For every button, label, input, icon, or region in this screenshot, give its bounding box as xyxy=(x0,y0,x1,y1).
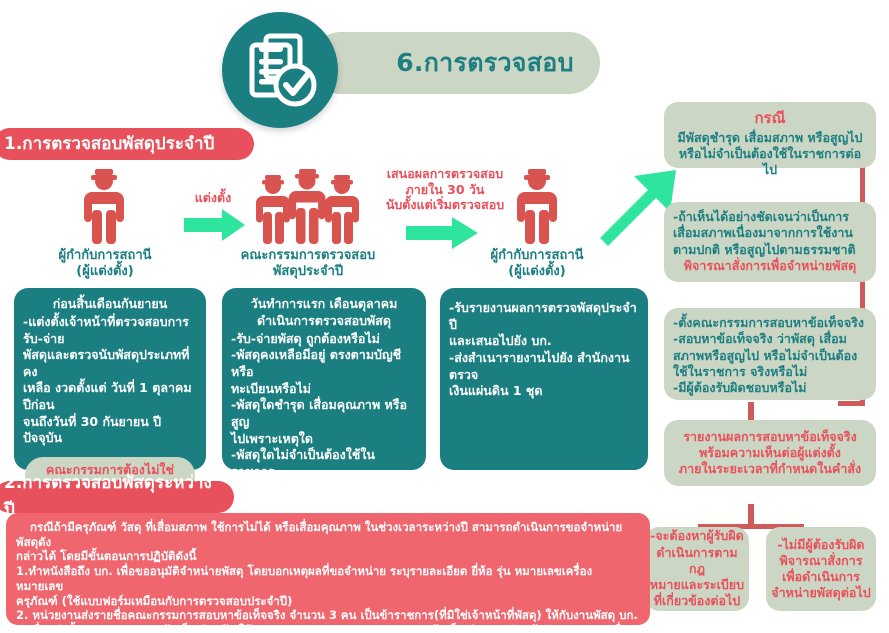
person-icon-station-superintendent-2 xyxy=(505,168,569,246)
green-box-5-line3: หมายและระเบียบ xyxy=(649,577,745,593)
arrow-1-label-text: แต่งตั้ง xyxy=(195,190,232,205)
teal-box-1: ก่อนสิ้นเดือนกันยายน -แต่งตั้งเจ้าหน้าที… xyxy=(14,288,206,470)
bottom-item-1b: ครุภัณฑ์ (ใช้แบบฟอร์มเหมือนกับการตรวจสอบ… xyxy=(16,594,640,609)
connector-bottom-to-box3 xyxy=(838,401,865,406)
teal-box-2-header: วันทำการแรก เดือนตุลาคม ดำเนินการตรวจสอบ… xyxy=(231,296,417,330)
green-box-2-line3: ตามปกติ หรือสูญไปตามธรรมชาติ xyxy=(673,242,867,258)
green-box-2-line1: -ถ้าเห็นได้อย่างชัดเจนว่าเป็นการ xyxy=(673,209,867,225)
green-box-6-line1: -ไม่มีผู้ต้องรับผิด xyxy=(770,537,872,553)
green-box-report-results: รายงานผลการสอบหาข้อเท็จจริง พร้อมความเห็… xyxy=(664,420,876,486)
green-box-3-line3: สภาพหรือสูญไป หรือไม่จำเป็นต้อง xyxy=(673,348,867,364)
person-1-label: ผู้กำกับการสถานี (ผู้แต่งตั้ง) xyxy=(32,248,178,281)
person-1-label-line1: ผู้กำกับการสถานี xyxy=(32,248,178,264)
green-box-3-line2: -สอบหาข้อเท็จจริง ว่าพัสดุ เสื่อม xyxy=(673,331,867,347)
teal-box-2-body-line7: ต่อไป xyxy=(231,480,417,497)
green-box-2-accent: พิจารณาสั่งการเพื่อจำหน่ายพัสดุ xyxy=(673,258,867,274)
teal-box-2-header-line1: วันทำการแรก เดือนตุลาคม xyxy=(231,296,417,313)
bottom-intro-line2: กล่าวได้ โดยมีขั้นตอนการปฏิบัติดังนี้ xyxy=(16,549,640,564)
teal-box-2-body-line4: -พัสดุใดชำรุด เสื่อมคุณภาพ หรือสูญ xyxy=(231,397,417,430)
bottom-intro-line1: กรณีถ้ามีครุภัณฑ์ วัสดุ ที่เสื่อมสภาพ ใช… xyxy=(16,520,640,549)
green-box-case-title: กรณี xyxy=(673,109,867,129)
arrow-2-label-line2: ภายใน 30 วัน xyxy=(376,182,514,198)
person-2-label-line1: คณะกรรมการตรวจสอบ xyxy=(232,248,384,264)
clipboard-check-icon xyxy=(222,12,338,128)
teal-box-2-body-line2: -พัสดุคงเหลือมีอยู่ ตรงตามบัญชีหรือ xyxy=(231,347,417,380)
green-box-3-line5: -มีผู้ต้องรับผิดชอบหรือไม่ xyxy=(673,380,867,396)
teal-box-2-body: -รับ-จ่ายพัสดุ ถูกต้องหรือไม่ -พัสดุคงเห… xyxy=(231,331,417,497)
teal-box-2: วันทำการแรก เดือนตุลาคม ดำเนินการตรวจสอบ… xyxy=(222,288,426,470)
connector-box3-to-box4 xyxy=(748,402,754,422)
teal-box-2-body-line5: ไปเพราะเหตุใด xyxy=(231,431,417,448)
infographic-canvas: 6.การตรวจสอบ 1.การตรวจสอบพัสดุประจำปี xyxy=(0,0,889,633)
teal-box-2-body-line3: ทะเบียนหรือไม่ xyxy=(231,381,417,398)
green-box-fact-finding-committee: -ตั้งคณะกรรมการสอบหาข้อเท็จจริง -สอบหาข้… xyxy=(664,308,876,400)
teal-box-3-body-line4: เงินแผ่นดิน 1 ชุด xyxy=(449,383,639,400)
person-3-label-line2: (ผู้แต่งตั้ง) xyxy=(464,264,610,280)
bottom-procedure-panel: กรณีถ้ามีครุภัณฑ์ วัสดุ ที่เสื่อมสภาพ ใช… xyxy=(6,513,650,625)
section-1-heading: 1.การตรวจสอบพัสดุประจำปี xyxy=(0,128,254,160)
green-box-2-line2: เสื่อมสภาพเนื่องมาจากการใช้งาน xyxy=(673,225,867,241)
green-box-4-line2: พร้อมความเห็นต่อผู้แต่งตั้ง xyxy=(673,445,867,461)
arrow-2-label-line1: เสนอผลการตรวจสอบ xyxy=(376,166,514,182)
person-2-label-line2: พัสดุประจำปี xyxy=(232,264,384,280)
person-2-label: คณะกรรมการตรวจสอบ พัสดุประจำปี xyxy=(232,248,384,281)
teal-box-1-body-line4: จนถึงวันที่ 30 กันยายน ปีปัจจุบัน xyxy=(23,414,197,447)
green-box-3-line1: -ตั้งคณะกรรมการสอบหาข้อเท็จจริง xyxy=(673,315,867,331)
teal-box-2-header-line2: ดำเนินการตรวจสอบพัสดุ xyxy=(231,313,417,330)
green-box-normal-deterioration: -ถ้าเห็นได้อย่างชัดเจนว่าเป็นการ เสื่อมส… xyxy=(664,202,876,282)
green-arrow-right-2 xyxy=(406,216,478,250)
bottom-item-1a: 1.ทำหนังสือถึง บก. เพื่อขออนุมัติจำหน่าย… xyxy=(16,564,640,593)
teal-box-3-body-line3: -ส่งสำเนารายงานไปยัง สำนักงานตรวจ xyxy=(449,350,639,383)
person-3-label-line1: ผู้กำกับการสถานี xyxy=(464,248,610,264)
section-2-heading: 2.การตรวจสอบพัสดุระหว่างปี xyxy=(0,481,234,513)
teal-box-1-body-line3: เหลือ งวดตั้งแต่ วันที่ 1 ตุลาคมปีก่อน xyxy=(23,380,197,413)
bottom-item-3a: 3.เมื่อแต่งตั้งกรรมการสอบหาข้อเท็จจริงแล… xyxy=(16,623,640,633)
header-title-pill: 6.การตรวจสอบ xyxy=(310,32,600,94)
teal-box-1-body-line1: -แต่งตั้งเจ้าหน้าที่ตรวจสอบการรับ-จ่าย xyxy=(23,314,197,347)
arrow-2-label-line3: นับตั้งแต่เริ่มตรวจสอบ xyxy=(376,197,514,213)
teal-box-2-body-line6: -พัสดุใดไม่จำเป็นต้องใช้ในราชการ xyxy=(231,447,417,480)
green-box-5-line4: ที่เกี่ยวข้องต่อไป xyxy=(649,593,745,609)
green-box-3-line4: ใช้ในราชการ จริงหรือไม่ xyxy=(673,364,867,380)
teal-box-1-body-line2: พัสดุและตรวจนับพัสดุประเภทที่คง xyxy=(23,347,197,380)
bottom-item-2: 2. หน่วยงานส่งรายชื่อคณะกรรมการสอบหาข้อเ… xyxy=(16,608,640,623)
green-box-find-responsible-party: -จะต้องหาผู้รับผิด ดำเนินการตามกฎ หมายแล… xyxy=(645,527,749,611)
arrow-1-label: แต่งตั้ง xyxy=(178,190,248,206)
green-box-6-line4: จำหน่ายพัสดุต่อไป xyxy=(770,585,872,601)
page-title: 6.การตรวจสอบ xyxy=(396,43,574,83)
green-arrow-right-1 xyxy=(184,208,246,242)
person-1-label-line2: (ผู้แต่งตั้ง) xyxy=(32,264,178,280)
teal-box-3: -รับรายงานผลการตรวจพัสดุประจำปี และเสนอไ… xyxy=(440,288,648,470)
green-box-case: กรณี มีพัสดุชำรุด เสื่อมสภาพ หรือสูญไป ห… xyxy=(664,102,876,168)
green-box-case-line1: มีพัสดุชำรุด เสื่อมสภาพ หรือสูญไป xyxy=(673,130,867,146)
teal-box-3-body-line1: -รับรายงานผลการตรวจพัสดุประจำปี xyxy=(449,300,639,333)
person-icon-station-superintendent-1 xyxy=(72,168,136,246)
green-box-5-line2: ดำเนินการตามกฎ xyxy=(649,545,745,578)
person-3-label: ผู้กำกับการสถานี (ผู้แต่งตั้ง) xyxy=(464,248,610,281)
green-box-6-line2: พิจารณาสั่งการ xyxy=(770,553,872,569)
green-box-6-line3: เพื่อดำเนินการ xyxy=(770,569,872,585)
teal-box-2-body-line1: -รับ-จ่ายพัสดุ ถูกต้องหรือไม่ xyxy=(231,331,417,348)
green-box-4-line3: ภายในระยะเวลาที่กำหนดในคำสั่ง xyxy=(673,461,867,477)
green-box-no-responsible-party: -ไม่มีผู้ต้องรับผิด พิจารณาสั่งการ เพื่อ… xyxy=(766,527,876,611)
green-box-5-line1: -จะต้องหาผู้รับผิด xyxy=(649,528,745,544)
section-1-label: 1.การตรวจสอบพัสดุประจำปี xyxy=(4,130,214,157)
teal-box-1-body: -แต่งตั้งเจ้าหน้าที่ตรวจสอบการรับ-จ่าย พ… xyxy=(23,314,197,447)
green-box-4-line1: รายงานผลการสอบหาข้อเท็จจริง xyxy=(673,429,867,445)
teal-box-3-body-line2: และเสนอไปยัง บก. xyxy=(449,333,639,350)
green-box-case-line2: หรือไม่จำเป็นต้องใช้ในราชการต่อไป xyxy=(673,146,867,179)
person-icon-annual-audit-committee xyxy=(255,168,359,246)
connector-box4-to-split xyxy=(748,504,754,526)
teal-box-1-header: ก่อนสิ้นเดือนกันยายน xyxy=(23,296,197,313)
teal-box-3-body: -รับรายงานผลการตรวจพัสดุประจำปี และเสนอไ… xyxy=(449,300,639,400)
arrow-2-label: เสนอผลการตรวจสอบ ภายใน 30 วัน นับตั้งแต่… xyxy=(376,166,514,213)
